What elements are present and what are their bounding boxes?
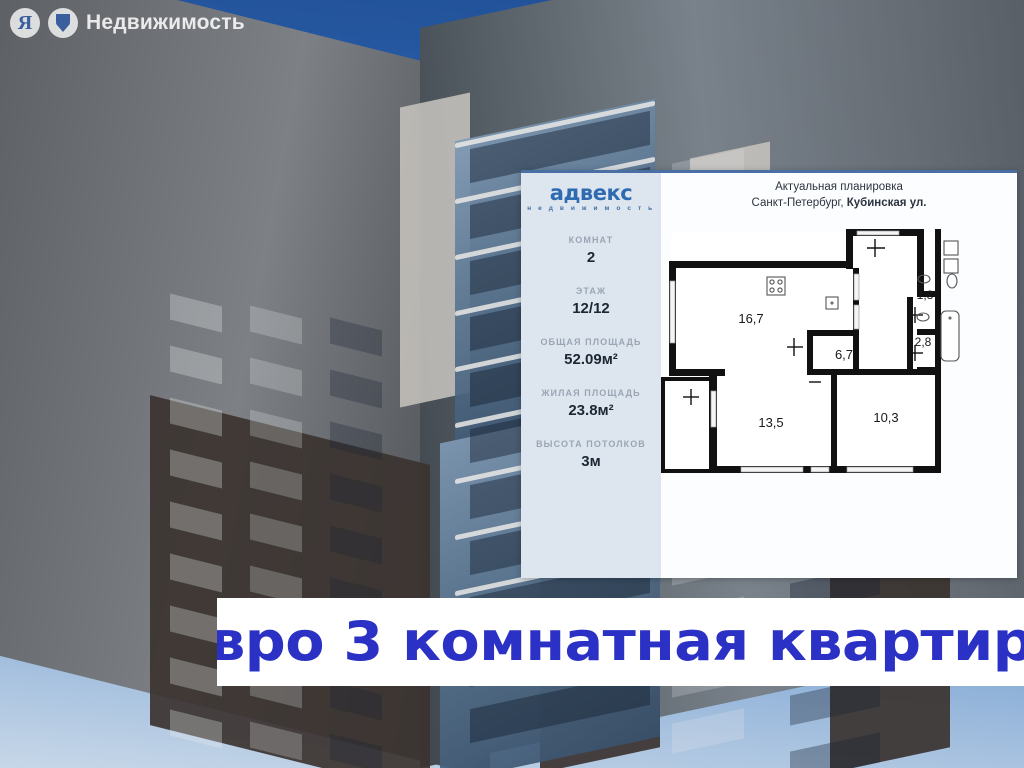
yandex-realty-drop-icon (48, 8, 78, 38)
plan-header: Актуальная планировка Санкт-Петербург, К… (661, 181, 1017, 209)
plan-title: Актуальная планировка (661, 181, 1017, 193)
yandex-logo-icon: Я (10, 8, 40, 38)
plan-street: Кубинская ул. (847, 197, 927, 209)
spec-label: КОМНАТ (521, 235, 661, 245)
adveks-logo-tagline: н е д в и ж и м о с т ь (527, 206, 655, 213)
spec-value: 23.8м² (521, 402, 661, 419)
spec-label: ОБЩАЯ ПЛОЩАДЬ (521, 337, 661, 347)
spec-item: ЖИЛАЯ ПЛОЩАДЬ23.8м² (521, 388, 661, 419)
plan-location: Санкт-Петербург, Кубинская ул. (661, 197, 1017, 209)
floor-plan-drawing: 16,7 6,7 1,8 2,8 13,5 10,3 (661, 219, 1017, 549)
spec-value: 52.09м² (521, 351, 661, 368)
room-area-bedroom-small: 10,3 (873, 410, 898, 425)
spec-item: ВЫСОТА ПОТОЛКОВ3м (521, 439, 661, 470)
spec-value: 3м (521, 453, 661, 470)
apartment-info-card: адвекс н е д в и ж и м о с т ь КОМНАТ2ЭТ… (521, 170, 1017, 578)
card-plan-area: Актуальная планировка Санкт-Петербург, К… (661, 173, 1017, 578)
headline-text: Евро 3 комнатная квартира (217, 615, 1024, 669)
spec-value: 12/12 (521, 300, 661, 317)
room-area-hall: 6,7 (835, 347, 853, 362)
plan-city: Санкт-Петербург, (752, 197, 847, 209)
room-area-kitchen-living: 16,7 (738, 311, 763, 326)
spec-label: ВЫСОТА ПОТОЛКОВ (521, 439, 661, 449)
spec-label: ЭТАЖ (521, 286, 661, 296)
room-area-toilet: 1,8 (917, 288, 934, 302)
specs-list: КОМНАТ2ЭТАЖ12/12ОБЩАЯ ПЛОЩАДЬ52.09м²ЖИЛА… (521, 235, 661, 490)
spec-item: КОМНАТ2 (521, 235, 661, 266)
room-area-bedroom-large: 13,5 (758, 415, 783, 430)
screenshot-root: Я Недвижимость адвекс н е д в и ж и м о … (0, 0, 1024, 768)
spec-value: 2 (521, 249, 661, 266)
spec-item: ЭТАЖ12/12 (521, 286, 661, 317)
yandex-realty-watermark: Я Недвижимость (10, 8, 245, 38)
adveks-logo: адвекс н е д в и ж и м о с т ь (527, 183, 655, 213)
adveks-logo-name: адвекс (527, 183, 655, 204)
card-specs-sidebar: адвекс н е д в и ж и м о с т ь КОМНАТ2ЭТ… (521, 173, 661, 578)
spec-label: ЖИЛАЯ ПЛОЩАДЬ (521, 388, 661, 398)
headline-banner: Евро 3 комнатная квартира (217, 598, 1024, 686)
room-area-bathroom: 2,8 (915, 335, 932, 349)
floor-plan: адвекс (661, 219, 1017, 549)
watermark-label: Недвижимость (86, 11, 245, 35)
spec-item: ОБЩАЯ ПЛОЩАДЬ52.09м² (521, 337, 661, 368)
